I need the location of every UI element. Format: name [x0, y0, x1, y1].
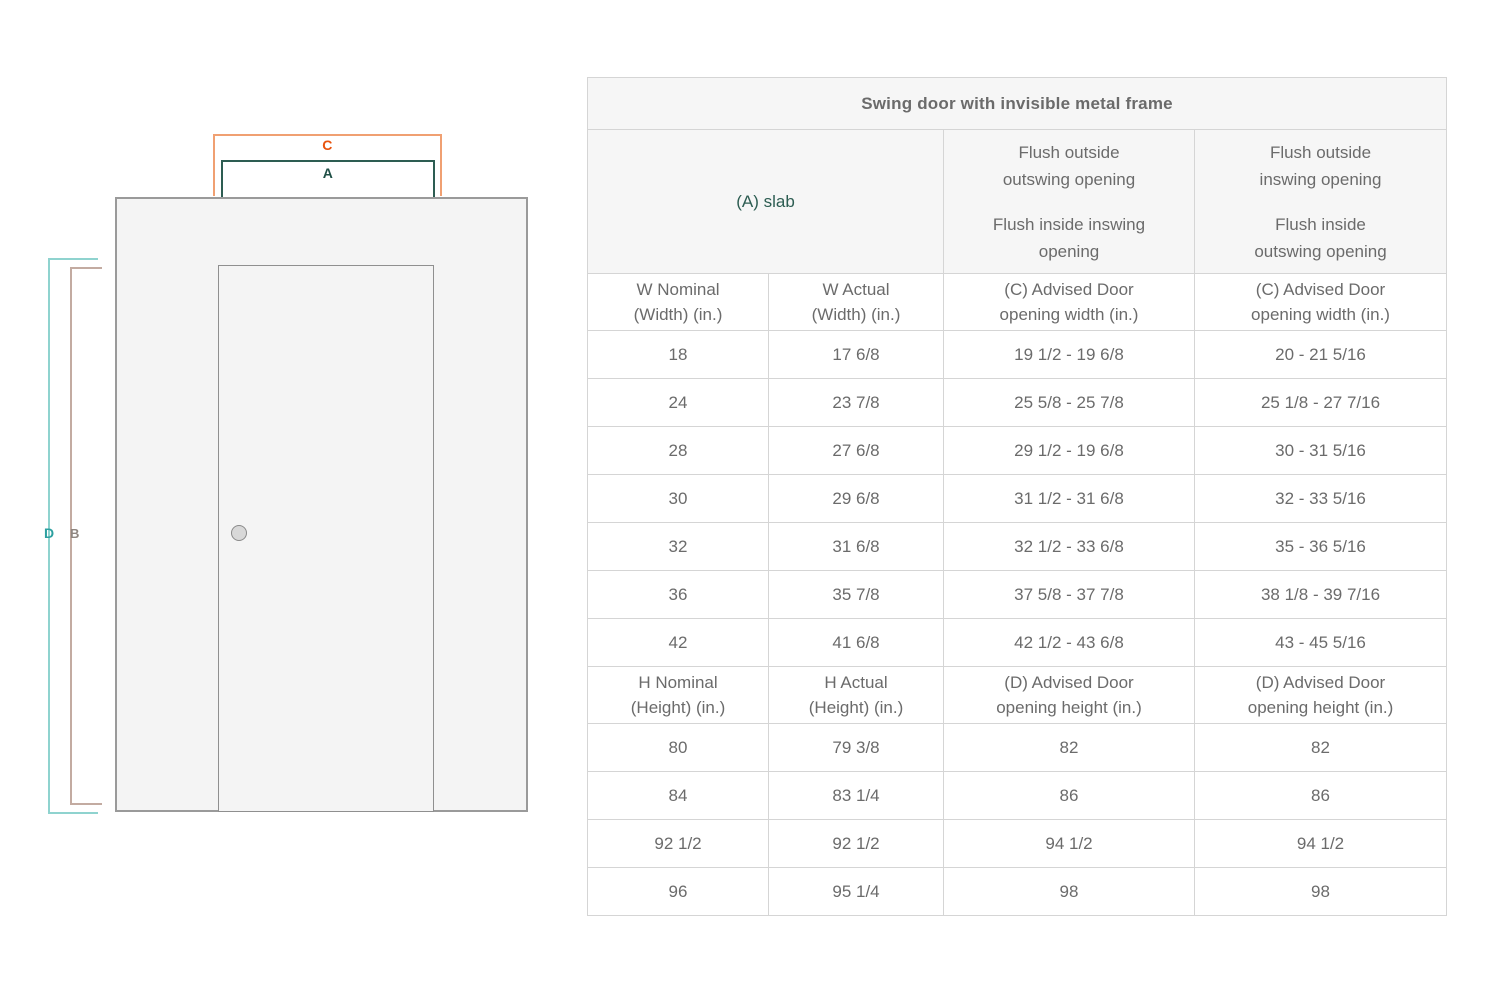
cell-outswing: 29 1/2 - 19 6/8: [944, 427, 1195, 475]
cell-nominal: 18: [588, 331, 769, 379]
group-header-row: (A) slab Flush outside outswing opening …: [588, 130, 1447, 274]
cell-actual: 83 1/4: [769, 772, 944, 820]
cell-actual: 29 6/8: [769, 475, 944, 523]
height-header-outswing-line2: opening height (in.): [944, 695, 1194, 720]
cell-nominal: 96: [588, 868, 769, 916]
cell-nominal: 30: [588, 475, 769, 523]
dimension-label-b: B: [70, 526, 80, 541]
height-header-outswing: (D) Advised Door opening height (in.): [944, 667, 1195, 724]
cell-inswing: 30 - 31 5/16: [1195, 427, 1447, 475]
table-row: 24 23 7/8 25 5/8 - 25 7/8 25 1/8 - 27 7/…: [588, 379, 1447, 427]
cell-outswing: 32 1/2 - 33 6/8: [944, 523, 1195, 571]
door-slab: [218, 265, 434, 812]
group-header-outswing-line1: Flush outside: [944, 139, 1194, 166]
slab-code-label: (A): [736, 192, 759, 211]
height-header-inswing: (D) Advised Door opening height (in.): [1195, 667, 1447, 724]
height-header-nominal-line1: H Nominal: [588, 670, 768, 695]
cell-actual: 79 3/8: [769, 724, 944, 772]
cell-outswing: 31 1/2 - 31 6/8: [944, 475, 1195, 523]
cell-inswing: 43 - 45 5/16: [1195, 619, 1447, 667]
cell-actual: 95 1/4: [769, 868, 944, 916]
cell-outswing: 37 5/8 - 37 7/8: [944, 571, 1195, 619]
width-header-inswing-line1: (C) Advised Door: [1195, 277, 1446, 302]
table-row: 36 35 7/8 37 5/8 - 37 7/8 38 1/8 - 39 7/…: [588, 571, 1447, 619]
width-header-actual-line2: (Width) (in.): [769, 302, 943, 327]
group-header-outswing-line2: outswing opening: [944, 166, 1194, 193]
table-row: 92 1/2 92 1/2 94 1/2 94 1/2: [588, 820, 1447, 868]
cell-actual: 27 6/8: [769, 427, 944, 475]
width-header-actual: W Actual (Width) (in.): [769, 274, 944, 331]
table-row: 84 83 1/4 86 86: [588, 772, 1447, 820]
height-header-nominal: H Nominal (Height) (in.): [588, 667, 769, 724]
cell-nominal: 80: [588, 724, 769, 772]
group-header-inswing-line2: inswing opening: [1195, 166, 1446, 193]
cell-nominal: 28: [588, 427, 769, 475]
cell-actual: 23 7/8: [769, 379, 944, 427]
group-header-inswing-line3: Flush inside: [1195, 211, 1446, 238]
table-row: 30 29 6/8 31 1/2 - 31 6/8 32 - 33 5/16: [588, 475, 1447, 523]
cell-actual: 92 1/2: [769, 820, 944, 868]
group-header-slab: (A) slab: [588, 130, 944, 274]
width-header-inswing: (C) Advised Door opening width (in.): [1195, 274, 1447, 331]
width-header-outswing: (C) Advised Door opening width (in.): [944, 274, 1195, 331]
group-header-inswing-line4: outswing opening: [1195, 238, 1446, 265]
cell-inswing: 98: [1195, 868, 1447, 916]
cell-inswing: 38 1/8 - 39 7/16: [1195, 571, 1447, 619]
group-header-outswing-line4: opening: [944, 238, 1194, 265]
width-subheader-row: W Nominal (Width) (in.) W Actual (Width)…: [588, 274, 1447, 331]
table-row: 80 79 3/8 82 82: [588, 724, 1447, 772]
width-header-inswing-line2: opening width (in.): [1195, 302, 1446, 327]
cell-nominal: 24: [588, 379, 769, 427]
table-row: 96 95 1/4 98 98: [588, 868, 1447, 916]
cell-inswing: 82: [1195, 724, 1447, 772]
cell-outswing: 25 5/8 - 25 7/8: [944, 379, 1195, 427]
dimension-label-d: D: [44, 525, 55, 541]
cell-nominal: 84: [588, 772, 769, 820]
dimension-label-a: A: [221, 162, 435, 184]
group-header-spacer-2: [1195, 193, 1446, 211]
slab-word-label: slab: [759, 192, 795, 211]
cell-actual: 17 6/8: [769, 331, 944, 379]
cell-inswing: 20 - 21 5/16: [1195, 331, 1447, 379]
table-title: Swing door with invisible metal frame: [588, 78, 1447, 130]
dimension-label-c: C: [213, 134, 442, 156]
height-header-inswing-line2: opening height (in.): [1195, 695, 1446, 720]
width-header-nominal-line1: W Nominal: [588, 277, 768, 302]
height-header-outswing-line1: (D) Advised Door: [944, 670, 1194, 695]
cell-nominal: 42: [588, 619, 769, 667]
cell-inswing: 32 - 33 5/16: [1195, 475, 1447, 523]
cell-outswing: 98: [944, 868, 1195, 916]
door-diagram: C A D B: [0, 0, 575, 1000]
cell-nominal: 32: [588, 523, 769, 571]
cell-outswing: 94 1/2: [944, 820, 1195, 868]
width-header-nominal-line2: (Width) (in.): [588, 302, 768, 327]
group-header-inswing: Flush outside inswing opening Flush insi…: [1195, 130, 1447, 274]
width-header-nominal: W Nominal (Width) (in.): [588, 274, 769, 331]
cell-inswing: 25 1/8 - 27 7/16: [1195, 379, 1447, 427]
height-header-actual-line1: H Actual: [769, 670, 943, 695]
height-header-actual: H Actual (Height) (in.): [769, 667, 944, 724]
height-header-inswing-line1: (D) Advised Door: [1195, 670, 1446, 695]
group-header-spacer: [944, 193, 1194, 211]
group-header-inswing-line1: Flush outside: [1195, 139, 1446, 166]
cell-inswing: 94 1/2: [1195, 820, 1447, 868]
door-handle-icon: [231, 525, 247, 541]
height-header-nominal-line2: (Height) (in.): [588, 695, 768, 720]
cell-actual: 35 7/8: [769, 571, 944, 619]
table-row: 18 17 6/8 19 1/2 - 19 6/8 20 - 21 5/16: [588, 331, 1447, 379]
table-title-row: Swing door with invisible metal frame: [588, 78, 1447, 130]
cell-inswing: 86: [1195, 772, 1447, 820]
table-row: 32 31 6/8 32 1/2 - 33 6/8 35 - 36 5/16: [588, 523, 1447, 571]
cell-outswing: 82: [944, 724, 1195, 772]
cell-nominal: 36: [588, 571, 769, 619]
width-header-outswing-line2: opening width (in.): [944, 302, 1194, 327]
height-header-actual-line2: (Height) (in.): [769, 695, 943, 720]
group-header-outswing: Flush outside outswing opening Flush ins…: [944, 130, 1195, 274]
table-row: 28 27 6/8 29 1/2 - 19 6/8 30 - 31 5/16: [588, 427, 1447, 475]
width-header-actual-line1: W Actual: [769, 277, 943, 302]
cell-inswing: 35 - 36 5/16: [1195, 523, 1447, 571]
height-subheader-row: H Nominal (Height) (in.) H Actual (Heigh…: [588, 667, 1447, 724]
group-header-outswing-line3: Flush inside inswing: [944, 211, 1194, 238]
cell-actual: 31 6/8: [769, 523, 944, 571]
width-header-outswing-line1: (C) Advised Door: [944, 277, 1194, 302]
cell-actual: 41 6/8: [769, 619, 944, 667]
cell-outswing: 19 1/2 - 19 6/8: [944, 331, 1195, 379]
cell-nominal: 92 1/2: [588, 820, 769, 868]
door-size-table: Swing door with invisible metal frame (A…: [587, 77, 1447, 916]
cell-outswing: 42 1/2 - 43 6/8: [944, 619, 1195, 667]
table-row: 42 41 6/8 42 1/2 - 43 6/8 43 - 45 5/16: [588, 619, 1447, 667]
cell-outswing: 86: [944, 772, 1195, 820]
